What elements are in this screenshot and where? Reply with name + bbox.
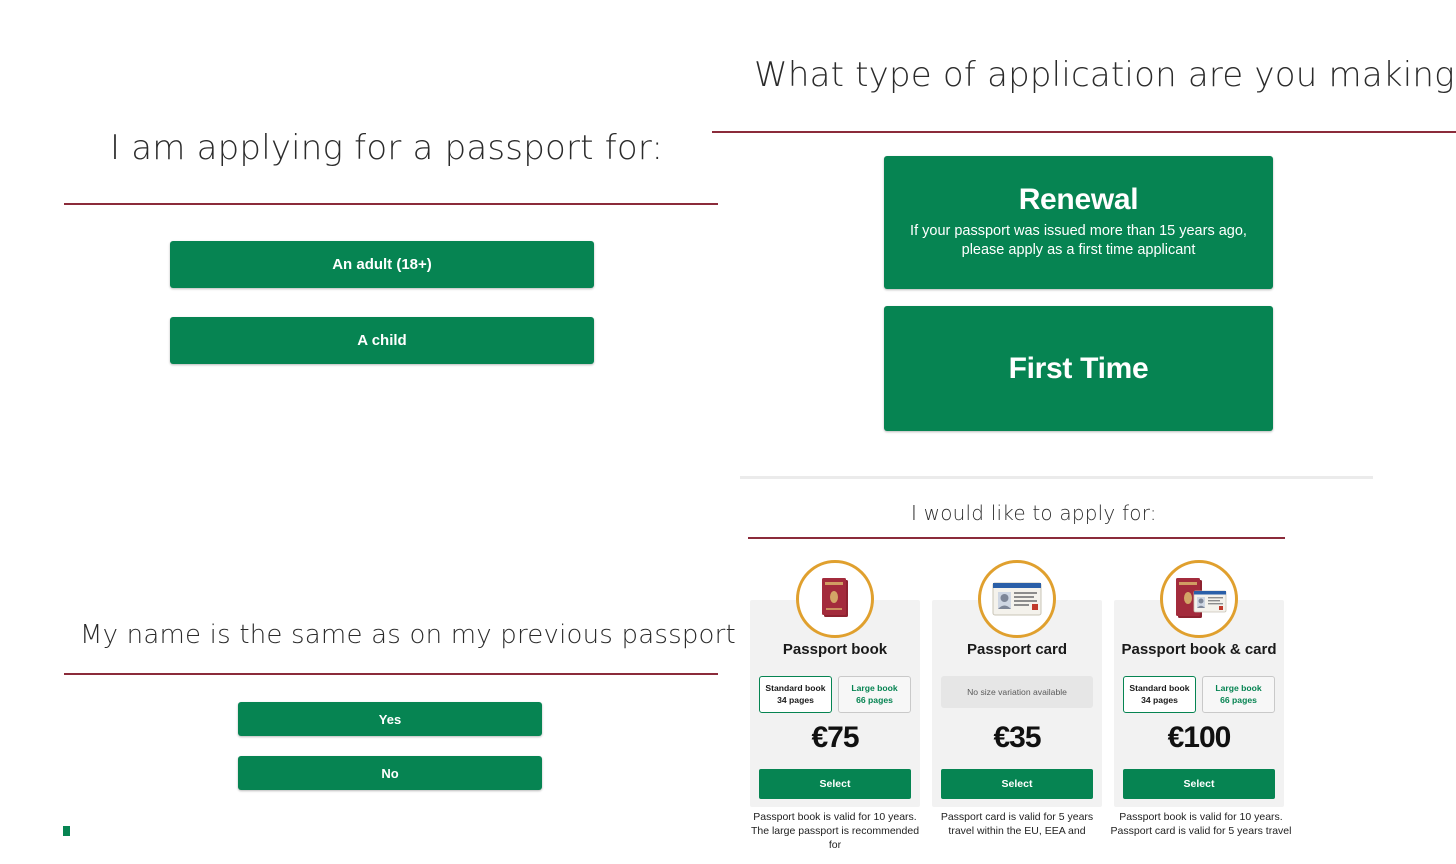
- product-footnote-passport-book: Passport book is valid for 10 years. The…: [744, 810, 926, 853]
- application-type-renewal-title: Renewal: [1019, 184, 1139, 216]
- application-type-renewal-button[interactable]: Renewal If your passport was issued more…: [884, 156, 1273, 289]
- name-option-yes-button[interactable]: Yes: [238, 702, 542, 736]
- applicant-section-divider: [64, 203, 718, 205]
- product-price-passport-book-and-card: €100: [1114, 721, 1284, 755]
- application-type-first-time-button[interactable]: First Time: [884, 306, 1273, 431]
- product-price-passport-book: €75: [750, 721, 920, 755]
- size-option-title: Standard book: [1126, 683, 1193, 695]
- size-option-detail: 66 pages: [1205, 695, 1272, 707]
- product-price-passport-card: €35: [932, 721, 1102, 755]
- application-type-first-time-title: First Time: [1009, 353, 1149, 385]
- applicant-section-heading: I am applying for a passport for:: [110, 128, 663, 168]
- name-option-no-label: No: [381, 766, 398, 781]
- name-section-heading: My name is the same as on my previous pa…: [80, 620, 736, 650]
- apply-for-divider: [748, 537, 1285, 539]
- applicant-option-adult-button[interactable]: An adult (18+): [170, 241, 594, 288]
- size-option-standard-book-passport-book[interactable]: Standard book 34 pages: [759, 676, 832, 713]
- applicant-option-child-label: A child: [357, 332, 406, 349]
- passport-book-and-card-icon: [1160, 560, 1238, 638]
- size-option-title: Standard book: [762, 683, 829, 695]
- apply-for-heading: I would like to apply for:: [911, 501, 1157, 525]
- product-footnote-passport-card: Passport card is valid for 5 years trave…: [926, 810, 1108, 838]
- size-option-title: Large book: [1205, 683, 1272, 695]
- applicant-option-child-button[interactable]: A child: [170, 317, 594, 364]
- name-section-divider: [64, 673, 718, 675]
- product-footnote-passport-book-and-card: Passport book is valid for 10 years. Pas…: [1106, 810, 1296, 838]
- size-option-standard-book-passport-book-and-card[interactable]: Standard book 34 pages: [1123, 676, 1196, 713]
- product-name-passport-card: Passport card: [932, 641, 1102, 658]
- application-type-divider: [712, 131, 1456, 133]
- size-option-detail: 66 pages: [841, 695, 908, 707]
- stray-green-artifact: [63, 826, 70, 836]
- passport-book-icon: [796, 560, 874, 638]
- size-option-large-book-passport-book-and-card[interactable]: Large book 66 pages: [1202, 676, 1275, 713]
- applicant-option-adult-label: An adult (18+): [332, 256, 432, 273]
- size-options-passport-book: Standard book 34 pages Large book 66 pag…: [750, 676, 920, 713]
- passport-card-icon: [978, 560, 1056, 638]
- size-option-detail: 34 pages: [762, 695, 829, 707]
- name-option-yes-label: Yes: [379, 712, 401, 727]
- application-type-renewal-subtitle: If your passport was issued more than 15…: [884, 222, 1273, 261]
- select-button-passport-book[interactable]: Select: [759, 769, 911, 799]
- size-option-large-book-passport-book[interactable]: Large book 66 pages: [838, 676, 911, 713]
- name-option-no-button[interactable]: No: [238, 756, 542, 790]
- size-option-title: Large book: [841, 683, 908, 695]
- no-size-variation-label: No size variation available: [941, 676, 1093, 708]
- size-options-passport-card: No size variation available: [932, 676, 1102, 708]
- product-name-passport-book-and-card: Passport book & card: [1114, 641, 1284, 658]
- select-button-passport-card[interactable]: Select: [941, 769, 1093, 799]
- application-type-heading: What type of application are you making?: [754, 55, 1456, 95]
- size-options-passport-book-and-card: Standard book 34 pages Large book 66 pag…: [1114, 676, 1284, 713]
- product-name-passport-book: Passport book: [750, 641, 920, 658]
- section-separator: [740, 476, 1373, 479]
- select-button-passport-book-and-card[interactable]: Select: [1123, 769, 1275, 799]
- size-option-detail: 34 pages: [1126, 695, 1193, 707]
